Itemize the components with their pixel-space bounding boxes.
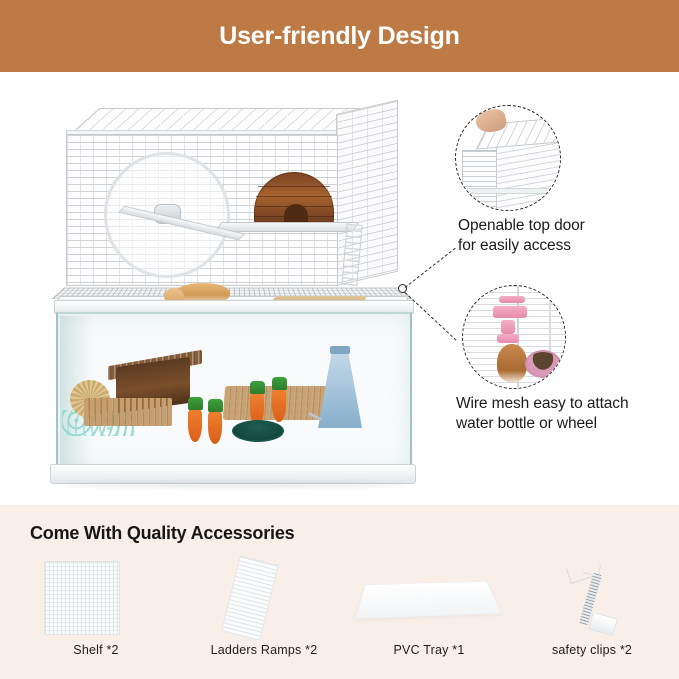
middle-shelf — [215, 222, 359, 232]
callout-1-line-1: Openable top door — [458, 216, 585, 236]
hero-product-section: Openable top door for easily access Wire… — [0, 72, 679, 505]
wire-shelf-grid-icon — [44, 561, 120, 635]
callout-1-artwork — [456, 106, 560, 210]
pink-accessory-part — [497, 334, 519, 343]
callout-detail-openable-top-door — [455, 105, 561, 211]
carrot-top-icon — [272, 377, 287, 390]
callout-1-line-2: for easily access — [458, 236, 585, 256]
accessory-artwork — [184, 557, 344, 639]
accessory-label: Ladders Ramps *2 — [184, 643, 344, 657]
callout-detail-wire-mesh — [462, 285, 566, 389]
callout-2-line-1: Wire mesh easy to attach — [456, 394, 628, 414]
page-title: User-friendly Design — [219, 22, 460, 51]
accessory-item-shelf: Shelf *2 — [16, 557, 176, 669]
carrot-top-icon — [208, 399, 223, 412]
accessories-section: Come With Quality Accessories Shelf *2 L… — [0, 505, 679, 679]
leader-line-top — [405, 248, 456, 288]
callout-2-line-2: water bottle or wheel — [456, 414, 628, 434]
pink-accessory-part — [493, 306, 527, 318]
pvc-tray-icon — [354, 581, 502, 619]
glass-panel — [56, 312, 412, 472]
carrot-top-icon — [188, 397, 203, 410]
hut-doorway — [284, 204, 308, 224]
leader-line-bottom — [405, 292, 457, 340]
clip-base-icon — [588, 612, 618, 636]
accessory-artwork — [16, 557, 176, 639]
callout-2-text: Wire mesh easy to attach water bottle or… — [456, 394, 628, 435]
carrot-toy — [272, 388, 286, 422]
drop-shadow — [62, 482, 406, 488]
accessory-item-pvc-tray: PVC Tray *1 — [349, 557, 509, 669]
carrot-toy — [188, 408, 202, 442]
accessory-label: PVC Tray *1 — [349, 643, 509, 657]
accessory-label: safety clips *2 — [512, 643, 672, 657]
green-food-bowl — [232, 420, 284, 442]
hamster-cage-illustration — [58, 100, 408, 490]
callout-2-artwork — [463, 286, 565, 388]
accessory-item-safety-clips: safety clips *2 — [512, 557, 672, 669]
accessory-item-ladders-ramps: Ladders Ramps *2 — [184, 557, 344, 669]
wooden-fence-left — [84, 398, 172, 426]
accessories-title: Come With Quality Accessories — [30, 523, 294, 544]
pink-accessory-part — [501, 320, 515, 334]
carrot-top-icon — [250, 381, 265, 394]
pink-accessory-part — [499, 296, 525, 303]
tank-base-frame — [50, 464, 416, 484]
cage-shelf — [464, 188, 559, 194]
accessory-artwork — [512, 557, 672, 639]
accessory-label: Shelf *2 — [16, 643, 176, 657]
callout-1-text: Openable top door for easily access — [458, 216, 585, 257]
header-banner: User-friendly Design — [0, 0, 679, 72]
water-bottle-cap — [330, 346, 350, 354]
hamster-illustration — [497, 344, 527, 382]
carrot-toy — [208, 410, 222, 444]
pink-food-bowl — [525, 350, 561, 378]
accessory-artwork — [349, 557, 509, 639]
ladder-ramp-icon — [221, 555, 279, 640]
glass-tank — [56, 312, 412, 484]
